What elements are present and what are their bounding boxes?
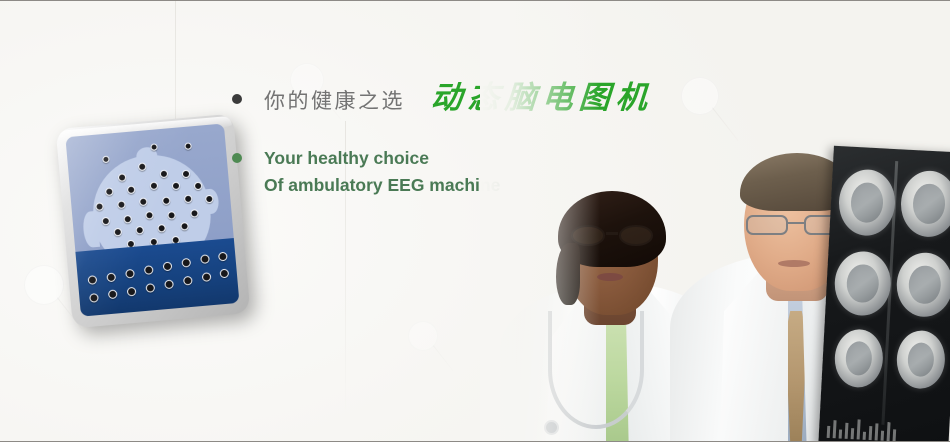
bullet-dot-green-icon (232, 153, 242, 163)
magnifier-icon (408, 321, 438, 351)
eeg-junction-box-image (56, 114, 251, 329)
connector-socket (106, 272, 116, 282)
connector-socket (125, 269, 135, 279)
brain-slice (833, 250, 892, 317)
connector-socket (89, 293, 99, 303)
electrode-socket (151, 144, 159, 152)
lips (778, 260, 810, 267)
connector-socket (202, 272, 212, 282)
connector-socket (87, 275, 97, 285)
connector-socket (183, 276, 193, 286)
connector-socket (181, 258, 191, 268)
brain-slice (833, 328, 884, 388)
connector-socket (163, 262, 173, 272)
connector-socket (200, 255, 210, 265)
lips (597, 273, 623, 281)
brain-slice (837, 168, 896, 237)
connector-socket (145, 283, 155, 293)
device-shell (56, 114, 251, 329)
device-face-panel (65, 123, 239, 316)
connector-socket (219, 269, 229, 279)
english-tagline: Your healthy choice Of ambulatory EEG ma… (264, 145, 500, 199)
brain-slice (899, 169, 950, 238)
promo-banner: 你的健康之选 动态脑电图机 Your healthy choice Of amb… (0, 0, 950, 442)
electrode-socket (184, 143, 192, 151)
connector-socket (217, 251, 227, 261)
electrode-socket (102, 155, 110, 163)
eyeglass-lens-right (619, 225, 653, 246)
electrode-socket (123, 215, 132, 224)
photo-left-fade (480, 1, 600, 442)
eyeglass-bridge (606, 232, 618, 235)
magnifier-icon (24, 265, 64, 305)
bullet-dot-dark-icon (232, 94, 242, 104)
connector-socket (126, 287, 136, 297)
english-tagline-line-2: Of ambulatory EEG machine (264, 172, 500, 199)
electrode-socket (190, 209, 199, 218)
brain-slice (895, 329, 946, 389)
film-calibration-marks (827, 416, 942, 442)
brain-slice (895, 251, 950, 318)
brain-ct-scan-film (818, 146, 950, 442)
device-connector-bank (75, 238, 239, 316)
connector-socket (107, 289, 117, 299)
eyeglass-bridge (788, 222, 804, 224)
electrode-socket (101, 217, 110, 226)
eyeglass-lens-left (746, 215, 788, 235)
doctors-photo (480, 1, 950, 442)
connector-socket (164, 279, 174, 289)
chinese-subtitle: 你的健康之选 (264, 88, 405, 114)
connector-socket (144, 265, 154, 275)
english-tagline-line-1: Your healthy choice (264, 145, 500, 172)
